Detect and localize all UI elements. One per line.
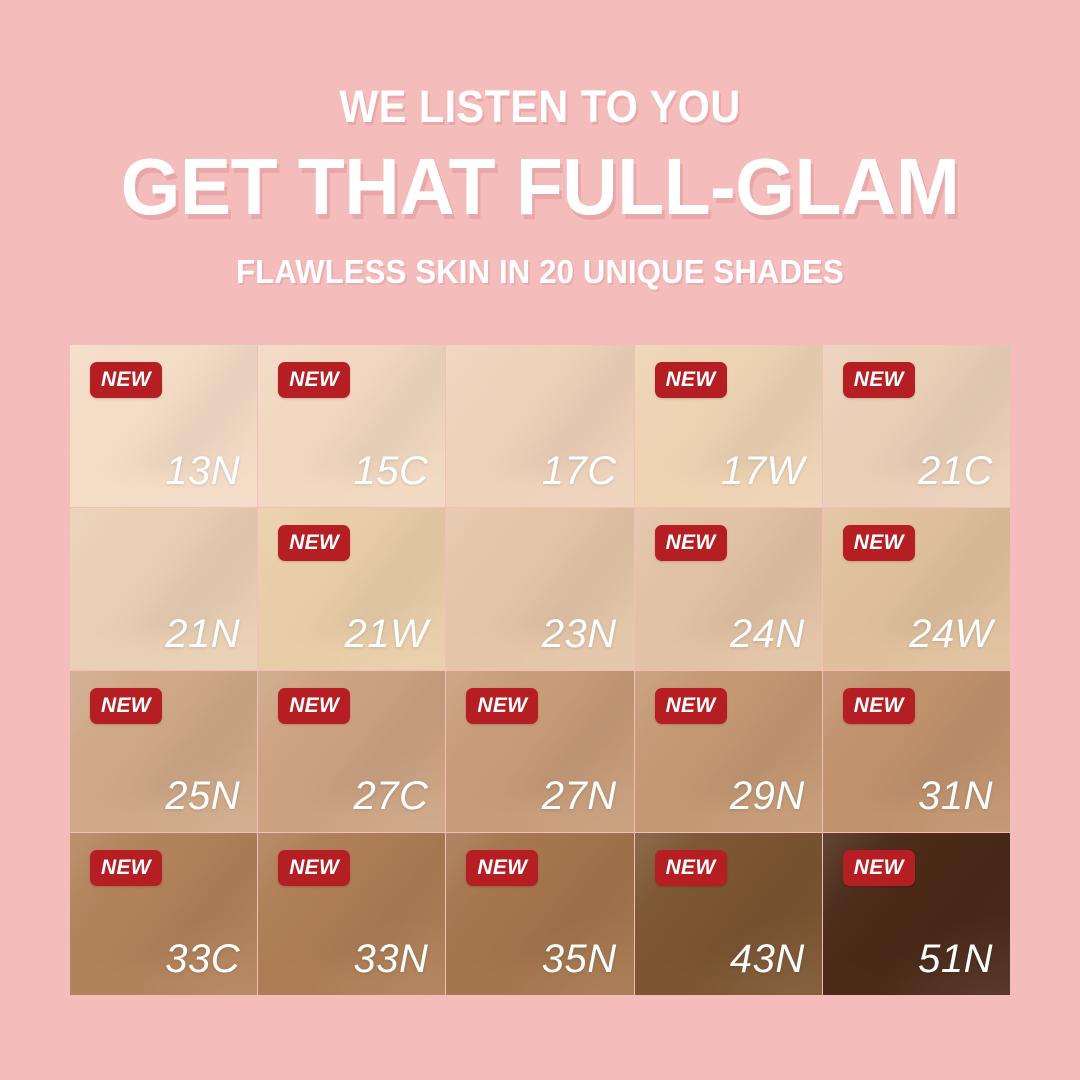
new-badge: NEW	[90, 362, 162, 398]
shade-swatch[interactable]: NEW51N	[823, 833, 1010, 995]
shade-code-label: 33C	[165, 939, 240, 979]
shade-code-label: 23N	[542, 614, 617, 654]
new-badge: NEW	[278, 850, 350, 886]
page-title: GET THAT FULL-GLAM	[22, 147, 1059, 227]
new-badge: NEW	[655, 525, 727, 561]
shade-swatch[interactable]: NEW31N	[823, 671, 1010, 833]
shade-code-label: 25N	[165, 776, 240, 816]
new-badge: NEW	[466, 688, 538, 724]
shade-swatch[interactable]: NEW25N	[70, 671, 257, 833]
shade-swatch[interactable]: NEW24N	[635, 508, 822, 670]
shade-code-label: 15C	[354, 451, 429, 491]
new-badge: NEW	[655, 688, 727, 724]
new-badge: NEW	[843, 850, 915, 886]
shade-code-label: 13N	[165, 451, 240, 491]
shade-code-label: 31N	[918, 776, 993, 816]
shade-swatch-grid: NEW13NNEW15C17CNEW17WNEW21C21NNEW21W23NN…	[70, 345, 1010, 995]
new-badge: NEW	[90, 850, 162, 886]
shade-code-label: 27N	[542, 776, 617, 816]
poster-header: WE LISTEN TO YOU GET THAT FULL-GLAM FLAW…	[0, 0, 1080, 288]
header-subline: FLAWLESS SKIN IN 20 UNIQUE SHADES	[32, 255, 1047, 288]
shade-code-label: 43N	[730, 939, 805, 979]
shade-swatch[interactable]: NEW15C	[258, 345, 445, 507]
shade-code-label: 33N	[354, 939, 429, 979]
new-badge: NEW	[278, 362, 350, 398]
shade-swatch[interactable]: NEW13N	[70, 345, 257, 507]
new-badge: NEW	[90, 688, 162, 724]
shade-swatch[interactable]: NEW27N	[446, 671, 633, 833]
new-badge: NEW	[655, 362, 727, 398]
new-badge: NEW	[843, 688, 915, 724]
shade-code-label: 51N	[918, 939, 993, 979]
shade-swatch[interactable]: NEW17W	[635, 345, 822, 507]
shade-swatch[interactable]: NEW29N	[635, 671, 822, 833]
shade-code-label: 24N	[730, 614, 805, 654]
shade-code-label: 27C	[354, 776, 429, 816]
new-badge: NEW	[843, 525, 915, 561]
new-badge: NEW	[278, 688, 350, 724]
shade-code-label: 21N	[165, 614, 240, 654]
new-badge: NEW	[843, 362, 915, 398]
shade-code-label: 35N	[542, 939, 617, 979]
shade-swatch[interactable]: 21N	[70, 508, 257, 670]
shade-swatch[interactable]: 23N	[446, 508, 633, 670]
shade-swatch[interactable]: NEW27C	[258, 671, 445, 833]
shade-swatch[interactable]: NEW33N	[258, 833, 445, 995]
shade-range-poster: WE LISTEN TO YOU GET THAT FULL-GLAM FLAW…	[0, 0, 1080, 1080]
shade-swatch[interactable]: NEW33C	[70, 833, 257, 995]
shade-swatch[interactable]: NEW35N	[446, 833, 633, 995]
shade-code-label: 17W	[721, 451, 805, 491]
new-badge: NEW	[466, 850, 538, 886]
header-kicker: WE LISTEN TO YOU	[43, 84, 1037, 129]
shade-swatch[interactable]: NEW21C	[823, 345, 1010, 507]
shade-code-label: 21C	[918, 451, 993, 491]
shade-swatch[interactable]: NEW43N	[635, 833, 822, 995]
shade-swatch[interactable]: 17C	[446, 345, 633, 507]
new-badge: NEW	[278, 525, 350, 561]
shade-code-label: 24W	[909, 614, 993, 654]
shade-swatch[interactable]: NEW21W	[258, 508, 445, 670]
shade-swatch[interactable]: NEW24W	[823, 508, 1010, 670]
new-badge: NEW	[655, 850, 727, 886]
shade-code-label: 17C	[542, 451, 617, 491]
shade-code-label: 29N	[730, 776, 805, 816]
shade-code-label: 21W	[345, 614, 429, 654]
